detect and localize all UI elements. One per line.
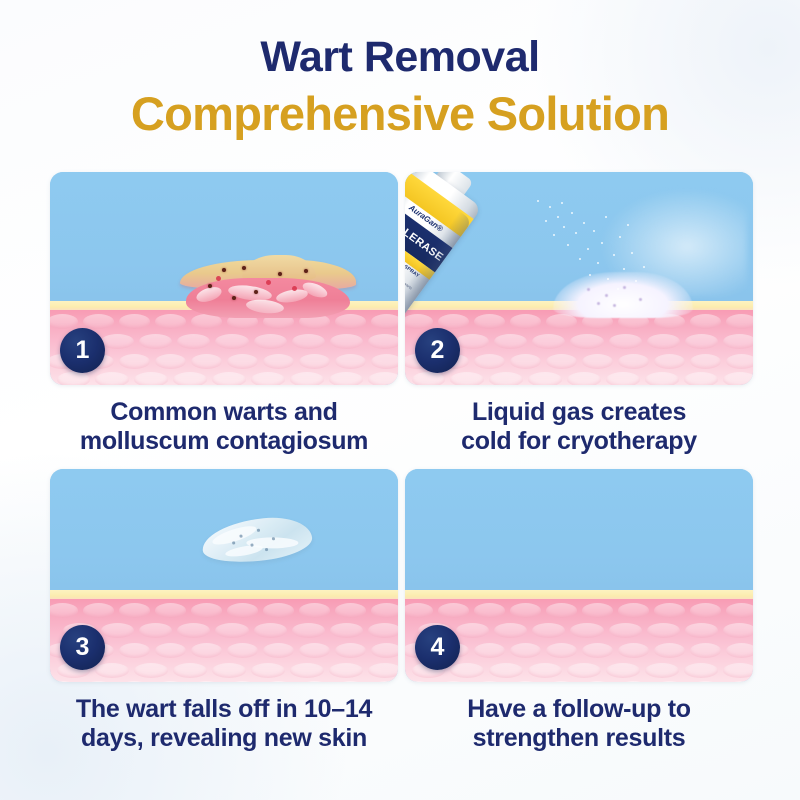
page-title-primary: Wart Removal [0, 36, 800, 79]
step-illustration-3: 3 [50, 469, 398, 682]
step-badge-1: 1 [60, 328, 105, 373]
step-card-1: 1 Common warts and molluscum contagiosum [50, 172, 398, 457]
step-caption-2-line1: Liquid gas creates [405, 398, 753, 427]
step-caption-3: The wart falls off in 10–14 days, reveal… [50, 695, 398, 754]
page-title-secondary: Comprehensive Solution [0, 89, 800, 138]
step-card-3: 3 The wart falls off in 10–14 days, reve… [50, 469, 398, 754]
step-card-4: 4 Have a follow-up to strengthen results [405, 469, 753, 754]
step-badge-2: 2 [415, 328, 460, 373]
step-illustration-2: AuraGan® CHILLERASE FREEZE CRYO SPRAY Fo… [405, 172, 753, 385]
step-caption-1-line2: molluscum contagiosum [50, 427, 398, 456]
step-badge-4: 4 [415, 625, 460, 670]
step-illustration-4: 4 [405, 469, 753, 682]
step-caption-1: Common warts and molluscum contagiosum [50, 398, 398, 457]
step-illustration-1: 1 [50, 172, 398, 385]
step-caption-4: Have a follow-up to strengthen results [405, 695, 753, 754]
step-badge-3: 3 [60, 625, 105, 670]
step-caption-3-line1: The wart falls off in 10–14 [50, 695, 398, 724]
step-caption-3-line2: days, revealing new skin [50, 724, 398, 753]
step-caption-4-line1: Have a follow-up to [405, 695, 753, 724]
step-caption-2-line2: cold for cryotherapy [405, 427, 753, 456]
step-caption-4-line2: strengthen results [405, 724, 753, 753]
step-card-2: AuraGan® CHILLERASE FREEZE CRYO SPRAY Fo… [405, 172, 753, 457]
wart-lesion [180, 260, 356, 316]
page-header: Wart Removal Comprehensive Solution [0, 0, 800, 138]
step-caption-2: Liquid gas creates cold for cryotherapy [405, 398, 753, 457]
air-layer [405, 469, 753, 590]
step-caption-1-line1: Common warts and [50, 398, 398, 427]
steps-grid: 1 Common warts and molluscum contagiosum [50, 172, 753, 753]
